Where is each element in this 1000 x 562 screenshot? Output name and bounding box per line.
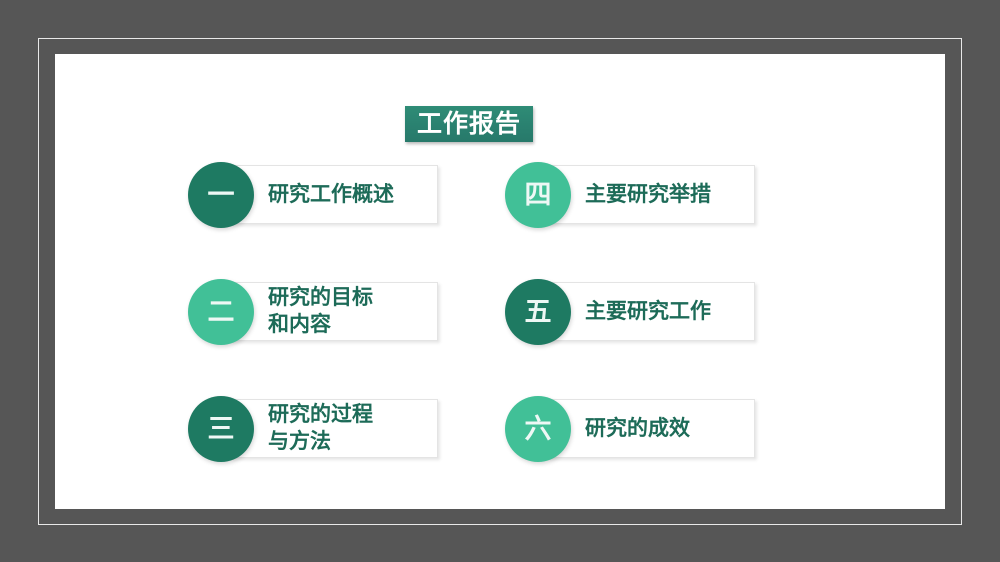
agenda-item-1[interactable]: 一 研究工作概述 (188, 162, 518, 228)
agenda-item-6[interactable]: 六 研究的成效 (505, 396, 835, 462)
presentation-stage: 工作报告 一 研究工作概述 二 研究的目标 和内容 (0, 0, 1000, 562)
agenda-item-label-line1: 研究的过程 (268, 402, 443, 429)
agenda-item-numeral: 一 (208, 182, 235, 209)
agenda-item-numeral: 三 (208, 416, 235, 443)
slide-title-badge: 工作报告 (405, 106, 533, 142)
agenda-item-label-line2: 与方法 (268, 429, 443, 456)
agenda-item-number-badge: 一 (188, 162, 254, 228)
agenda-item-numeral: 六 (525, 416, 552, 443)
agenda-item-number-badge: 三 (188, 396, 254, 462)
agenda-item-numeral: 二 (208, 299, 235, 326)
agenda-item-label-line1: 研究工作概述 (268, 182, 443, 209)
agenda-item-label-line1: 研究的成效 (585, 416, 760, 443)
agenda-item-number-badge: 二 (188, 279, 254, 345)
agenda-item-label: 研究工作概述 (268, 162, 443, 228)
slide-canvas: 工作报告 一 研究工作概述 二 研究的目标 和内容 (55, 54, 945, 509)
agenda-item-4[interactable]: 四 主要研究举措 (505, 162, 835, 228)
agenda-item-label: 研究的目标 和内容 (268, 279, 443, 345)
agenda-item-numeral: 五 (525, 299, 552, 326)
agenda-column-left: 一 研究工作概述 二 研究的目标 和内容 三 (188, 162, 518, 462)
agenda-item-label: 研究的成效 (585, 396, 760, 462)
agenda-item-3[interactable]: 三 研究的过程 与方法 (188, 396, 518, 462)
agenda-item-label: 研究的过程 与方法 (268, 396, 443, 462)
agenda-item-label-line2: 和内容 (268, 312, 443, 339)
agenda-item-label-line1: 主要研究举措 (585, 182, 760, 209)
agenda-item-5[interactable]: 五 主要研究工作 (505, 279, 835, 345)
agenda-item-2[interactable]: 二 研究的目标 和内容 (188, 279, 518, 345)
agenda-item-numeral: 四 (525, 182, 552, 209)
slide-title-text: 工作报告 (417, 112, 521, 137)
agenda-item-number-badge: 五 (505, 279, 571, 345)
agenda-item-label-line1: 主要研究工作 (585, 299, 760, 326)
agenda-item-label-line1: 研究的目标 (268, 285, 443, 312)
agenda-item-number-badge: 四 (505, 162, 571, 228)
agenda-item-label: 主要研究举措 (585, 162, 760, 228)
agenda-item-label: 主要研究工作 (585, 279, 760, 345)
agenda-item-number-badge: 六 (505, 396, 571, 462)
agenda-column-right: 四 主要研究举措 五 主要研究工作 六 (505, 162, 835, 462)
